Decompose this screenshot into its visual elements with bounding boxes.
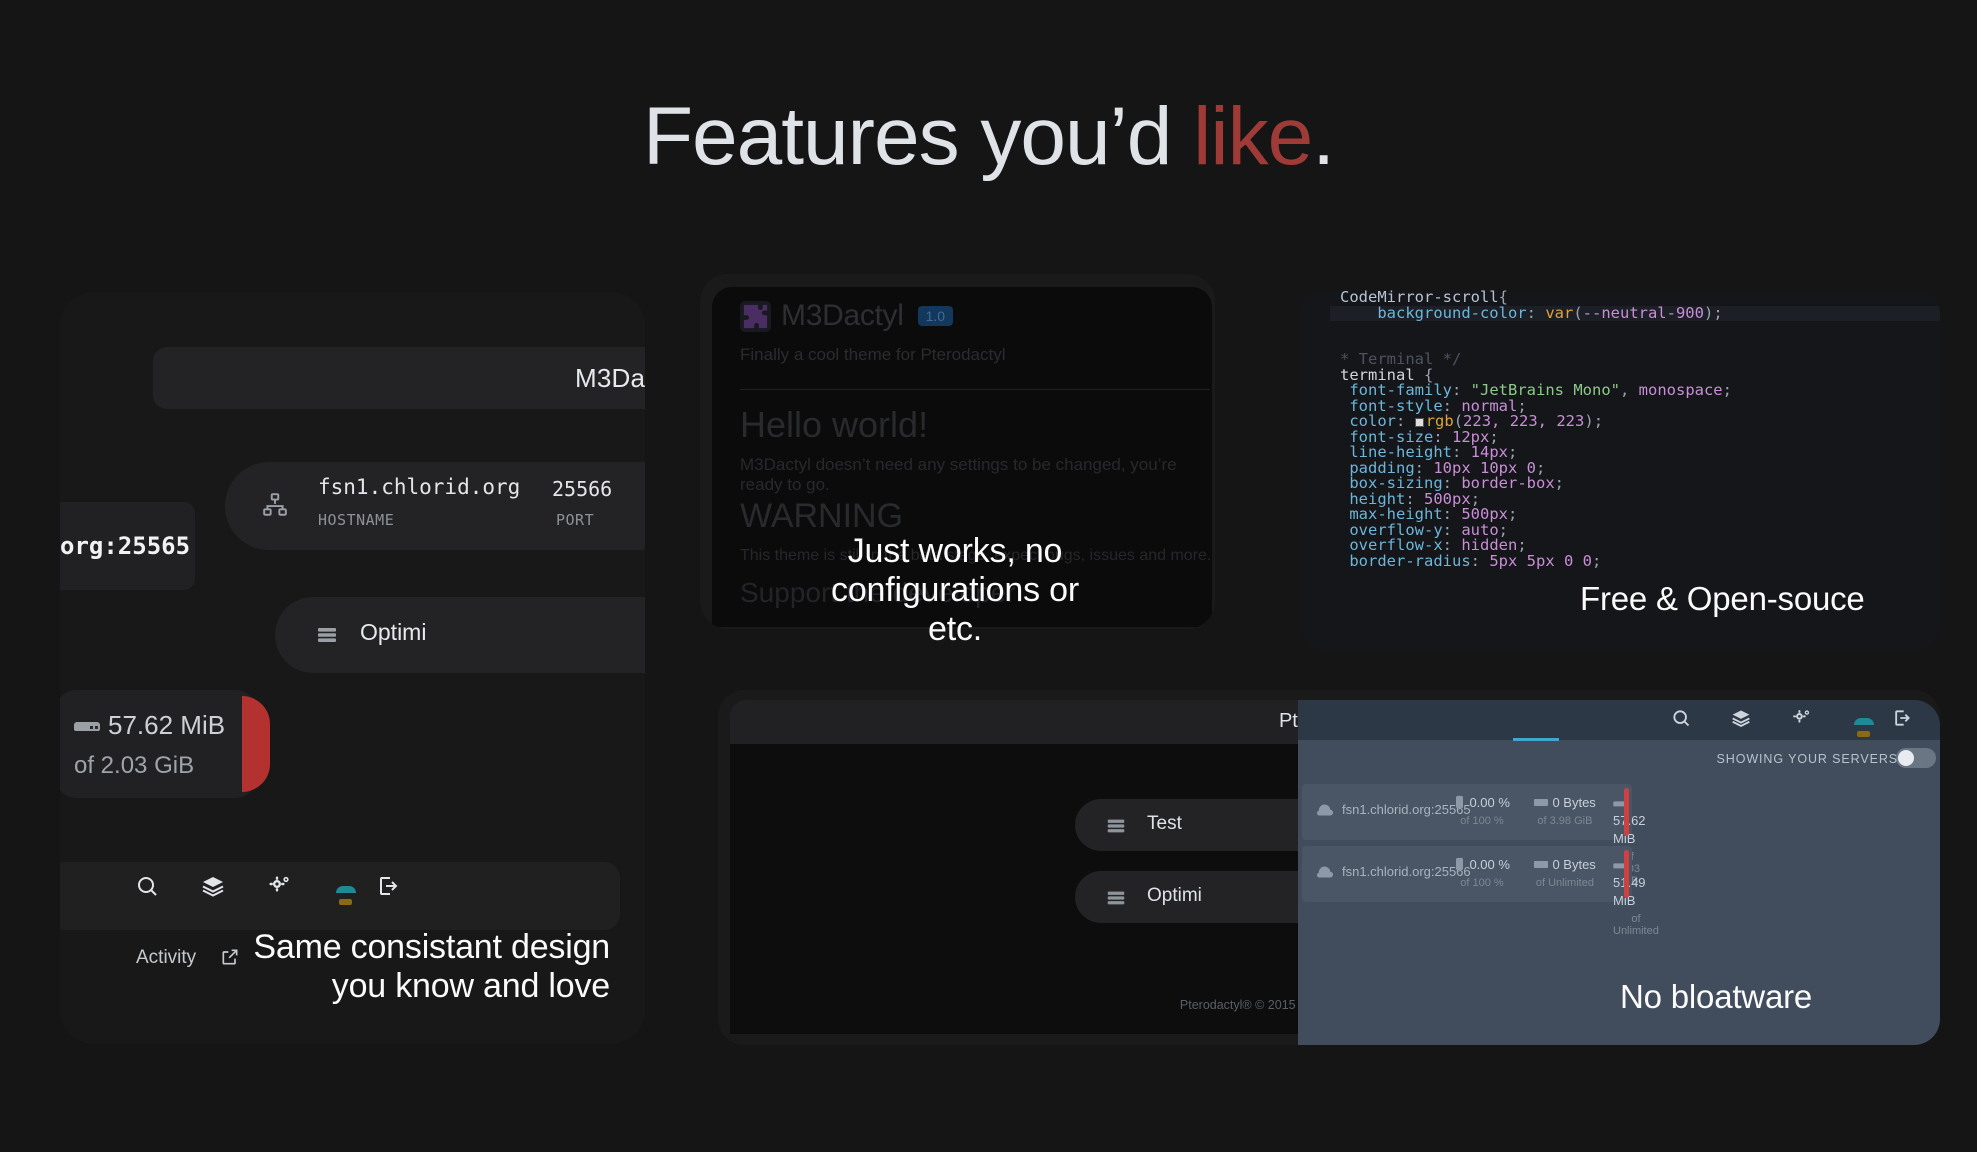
version-badge: 1.0	[918, 306, 953, 326]
cpu-icon	[1454, 794, 1469, 811]
caption-consistent-design: Same consistant design you know and love	[190, 928, 610, 1006]
server-cloud-icon	[1316, 866, 1333, 879]
page-title-lead: Features you’d	[643, 91, 1193, 182]
memory-usage-card: 57.62 MiB of 2.03 GiB	[60, 690, 256, 798]
search-icon[interactable]	[135, 874, 159, 898]
puzzle-piece-icon	[740, 301, 771, 332]
page-title-accent: like	[1193, 91, 1312, 182]
memory-stat: 51.49 MiB of Unlimited	[1613, 856, 1659, 937]
mobile-server-row[interactable]: fsn1.chlorid.org:25566 0.00 % of 100 % 0…	[1302, 846, 1632, 902]
mobile-nav-bar	[1298, 700, 1940, 740]
extension-heading-2: WARNING	[740, 497, 903, 536]
code-line: border-radius: 5px 5px 0 0;	[1330, 554, 1940, 570]
search-icon[interactable]	[1671, 708, 1691, 728]
cpu-icon	[1454, 856, 1469, 873]
dashboard-server-label: Test	[1147, 813, 1182, 835]
layers-icon[interactable]	[201, 874, 225, 898]
mobile-server-name: fsn1.chlorid.org:25565	[1342, 802, 1471, 817]
hostname-value: fsn1.chlorid.org	[318, 475, 520, 499]
showing-servers-toggle[interactable]	[1896, 748, 1936, 768]
cpu-value: 0.00 %	[1469, 795, 1509, 810]
server-cloud-icon	[1316, 804, 1333, 817]
address-chip[interactable]: org:25565	[60, 502, 195, 590]
disk-sub: of 3.98 GiB	[1534, 815, 1596, 827]
mobile-server-name: fsn1.chlorid.org:25566	[1342, 864, 1471, 879]
caption-free-open-source: Free & Open-souce	[1580, 580, 1865, 618]
address-chip-label: org:25565	[60, 532, 190, 560]
memory-used-value: 57.62 MiB	[108, 710, 225, 741]
disk-stat: 0 Bytes of 3.98 GiB	[1534, 794, 1596, 827]
gears-icon[interactable]	[267, 874, 292, 898]
code-line: background-color: var(--neutral-900);	[1330, 306, 1940, 322]
server-icon	[1105, 887, 1127, 909]
cpu-value: 0.00 %	[1469, 857, 1509, 872]
nav-icon-group	[135, 874, 400, 898]
status-bar	[1624, 788, 1629, 836]
extension-heading-1: Hello world!	[740, 404, 928, 446]
app-topbar: M3Dactyl	[153, 347, 645, 409]
cpu-sub: of 100 %	[1454, 877, 1510, 889]
logout-icon[interactable]	[1892, 708, 1912, 728]
divider	[740, 389, 1210, 390]
dashboard-server-label: Optimi	[1147, 885, 1202, 907]
disk-icon	[1534, 856, 1552, 873]
extension-title: M3Dactyl	[781, 299, 904, 333]
showing-servers-label: SHOWING YOUR SERVERS	[1717, 752, 1898, 766]
memory-sub: of Unlimited	[1613, 913, 1659, 937]
gears-icon[interactable]	[1791, 708, 1812, 728]
memory-value: 57.62 MiB	[1613, 813, 1646, 846]
panel-no-bloatware: SHOWING YOUR SERVERS fsn1.chlorid.org:25…	[1298, 700, 1940, 1045]
bottom-nav-bar	[60, 862, 620, 930]
page-title-dot: .	[1312, 91, 1334, 182]
host-allocation-row[interactable]: fsn1.chlorid.org HOSTNAME 25566 PORT Not…	[225, 462, 645, 550]
mobile-server-row[interactable]: fsn1.chlorid.org:25565 0.00 % of 100 % 0…	[1302, 784, 1632, 840]
cpu-stat: 0.00 % of 100 %	[1454, 856, 1510, 889]
page-title: Features you’d like.	[0, 92, 1977, 182]
color-swatch	[1415, 418, 1424, 427]
cpu-stat: 0.00 % of 100 %	[1454, 794, 1510, 827]
server-icon	[1105, 815, 1127, 837]
disk-value: 0 Bytes	[1552, 857, 1595, 872]
extension-subtitle: Finally a cool theme for Pterodactyl	[740, 345, 1006, 365]
logout-icon[interactable]	[376, 874, 400, 898]
server-list-item-label: Optimi	[360, 619, 426, 646]
server-icon	[315, 623, 339, 647]
active-tab-underline	[1513, 738, 1559, 741]
server-list-item[interactable]: Optimi	[275, 597, 645, 673]
extension-paragraph-1: M3Dactyl doesn’t need any settings to be…	[740, 455, 1212, 495]
port-value: 25566	[552, 477, 612, 501]
app-title: M3Dactyl	[575, 363, 645, 394]
disk-icon	[1534, 794, 1552, 811]
mobile-nav-icon-group	[1671, 708, 1912, 728]
hostname-label: HOSTNAME	[318, 511, 394, 529]
disk-sub: of Unlimited	[1534, 877, 1596, 889]
disk-stat: 0 Bytes of Unlimited	[1534, 856, 1596, 889]
memory-usage-arc	[242, 696, 270, 792]
caption-just-works: Just works, no configurations or etc.	[820, 532, 1090, 649]
code-line: font-style: normal;	[1330, 399, 1940, 415]
page-root: Features you’d like. M3Dactyl fsn1.chlor…	[0, 0, 1977, 1152]
network-icon	[262, 492, 288, 518]
port-label: PORT	[556, 511, 594, 529]
memory-icon	[74, 716, 100, 734]
cpu-sub: of 100 %	[1454, 815, 1510, 827]
caption-no-bloatware: No bloatware	[1620, 978, 1812, 1016]
memory-total-value: of 2.03 GiB	[74, 752, 194, 780]
layers-icon[interactable]	[1731, 708, 1751, 728]
status-bar	[1624, 850, 1629, 898]
disk-value: 0 Bytes	[1552, 795, 1595, 810]
extension-header: M3Dactyl 1.0	[740, 299, 953, 333]
memory-value: 51.49 MiB	[1613, 875, 1646, 908]
code-line	[1330, 321, 1940, 337]
activity-label[interactable]: Activity	[136, 947, 196, 969]
